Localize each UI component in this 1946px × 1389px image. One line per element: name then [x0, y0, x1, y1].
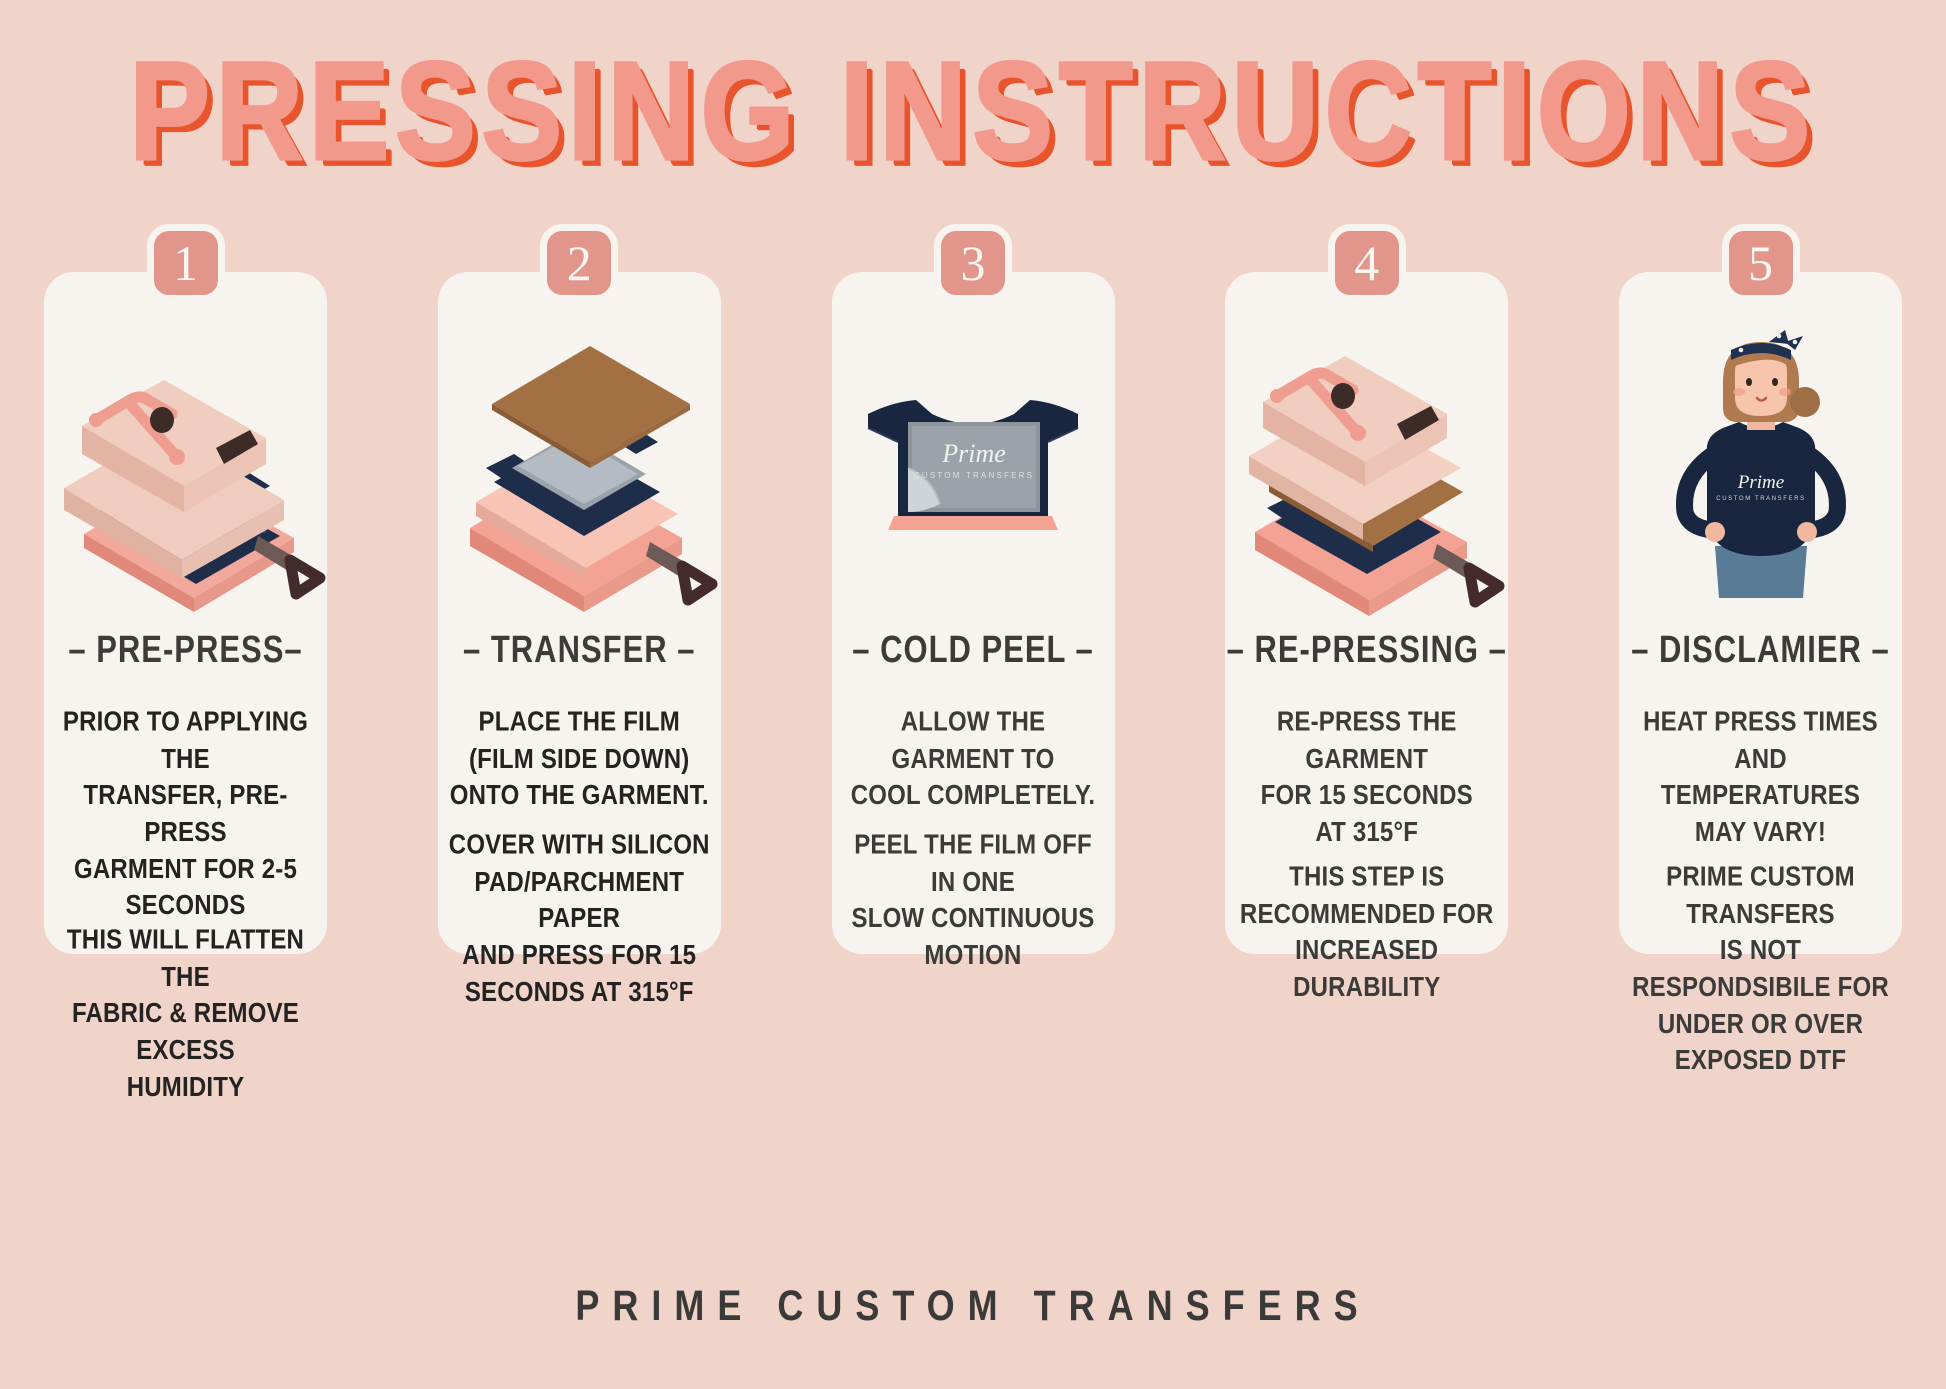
step-heading-5: – DISCLAMIER – — [1631, 628, 1890, 672]
step-number-badge-5: 5 — [1722, 224, 1800, 302]
page-title: PRESSING INSTRUCTIONS — [130, 42, 1817, 181]
step-heading-1: – PRE-PRESS– — [68, 628, 302, 672]
step-paragraph: PLACE THE FILM (FILM SIDE DOWN) ONTO THE… — [438, 704, 721, 814]
step-card-5: 5 — [1619, 272, 1902, 954]
brand-footer: PRIME CUSTOM TRANSFERS — [0, 1281, 1946, 1331]
step-paragraph: RE-PRESS THE GARMENT FOR 15 SECONDS AT 3… — [1225, 704, 1508, 851]
step-paragraph: ALLOW THE GARMENT TO COOL COMPLETELY. — [832, 704, 1115, 814]
step-number-badge-2: 2 — [540, 224, 618, 302]
step-paragraph: THIS WILL FLATTEN THE FABRIC & REMOVE EX… — [44, 922, 327, 1106]
step-heading-3: – COLD PEEL – — [852, 628, 1094, 672]
illustration-transfer-film-layers-icon — [438, 316, 721, 616]
svg-text:Prime: Prime — [941, 439, 1006, 468]
step-number-badge-1: 1 — [147, 224, 225, 302]
step-number-badge-4: 4 — [1328, 224, 1406, 302]
step-number-badge-3: 3 — [934, 224, 1012, 302]
steps-card-row: 1 — [44, 272, 1902, 954]
step-card-4: 4 — [1225, 272, 1508, 954]
step-paragraph: COVER WITH SILICON PAD/PARCHMENT PAPER A… — [438, 827, 721, 1011]
step-paragraph: HEAT PRESS TIMES AND TEMPERATURES MAY VA… — [1619, 704, 1902, 851]
step-card-2: 2 — [438, 272, 721, 954]
page-title-wrap: PRESSING INSTRUCTIONS — [0, 42, 1946, 172]
step-body-1: PRIOR TO APPLYING THE TRANSFER, PRE-PRES… — [44, 704, 327, 1108]
step-heading-2: – TRANSFER – — [463, 628, 695, 672]
svg-text:Prime: Prime — [1737, 472, 1784, 493]
svg-text:CUSTOM TRANSFERS: CUSTOM TRANSFERS — [1716, 496, 1805, 502]
step-card-1: 1 — [44, 272, 327, 954]
step-paragraph: PRIME CUSTOM TRANSFERS IS NOT RESPONDSIB… — [1619, 859, 1902, 1079]
step-body-4: RE-PRESS THE GARMENT FOR 15 SECONDS AT 3… — [1225, 704, 1508, 1013]
step-body-3: ALLOW THE GARMENT TO COOL COMPLETELY. PE… — [832, 704, 1115, 982]
step-paragraph: THIS STEP IS RECOMMENDED FOR INCREASED D… — [1225, 859, 1508, 1006]
step-body-2: PLACE THE FILM (FILM SIDE DOWN) ONTO THE… — [438, 704, 721, 1013]
illustration-peeling-film-shirt-icon: Prime CUSTOM TRANSFERS — [832, 316, 1115, 616]
step-paragraph: PEEL THE FILM OFF IN ONE SLOW CONTINUOUS… — [832, 827, 1115, 974]
illustration-heat-press-repress-icon — [1225, 316, 1508, 616]
illustration-heat-press-closed-icon — [44, 316, 327, 616]
step-heading-4: – RE-PRESSING – — [1227, 628, 1507, 672]
step-body-5: HEAT PRESS TIMES AND TEMPERATURES MAY VA… — [1619, 704, 1902, 1077]
svg-text:CUSTOM TRANSFERS: CUSTOM TRANSFERS — [913, 471, 1033, 480]
step-paragraph: PRIOR TO APPLYING THE TRANSFER, PRE-PRES… — [44, 704, 327, 924]
step-card-3: 3 Prime CUSTOM TRANSFERS – COL — [832, 272, 1115, 954]
illustration-woman-wearing-shirt-icon: Prime CUSTOM TRANSFERS — [1619, 316, 1902, 616]
